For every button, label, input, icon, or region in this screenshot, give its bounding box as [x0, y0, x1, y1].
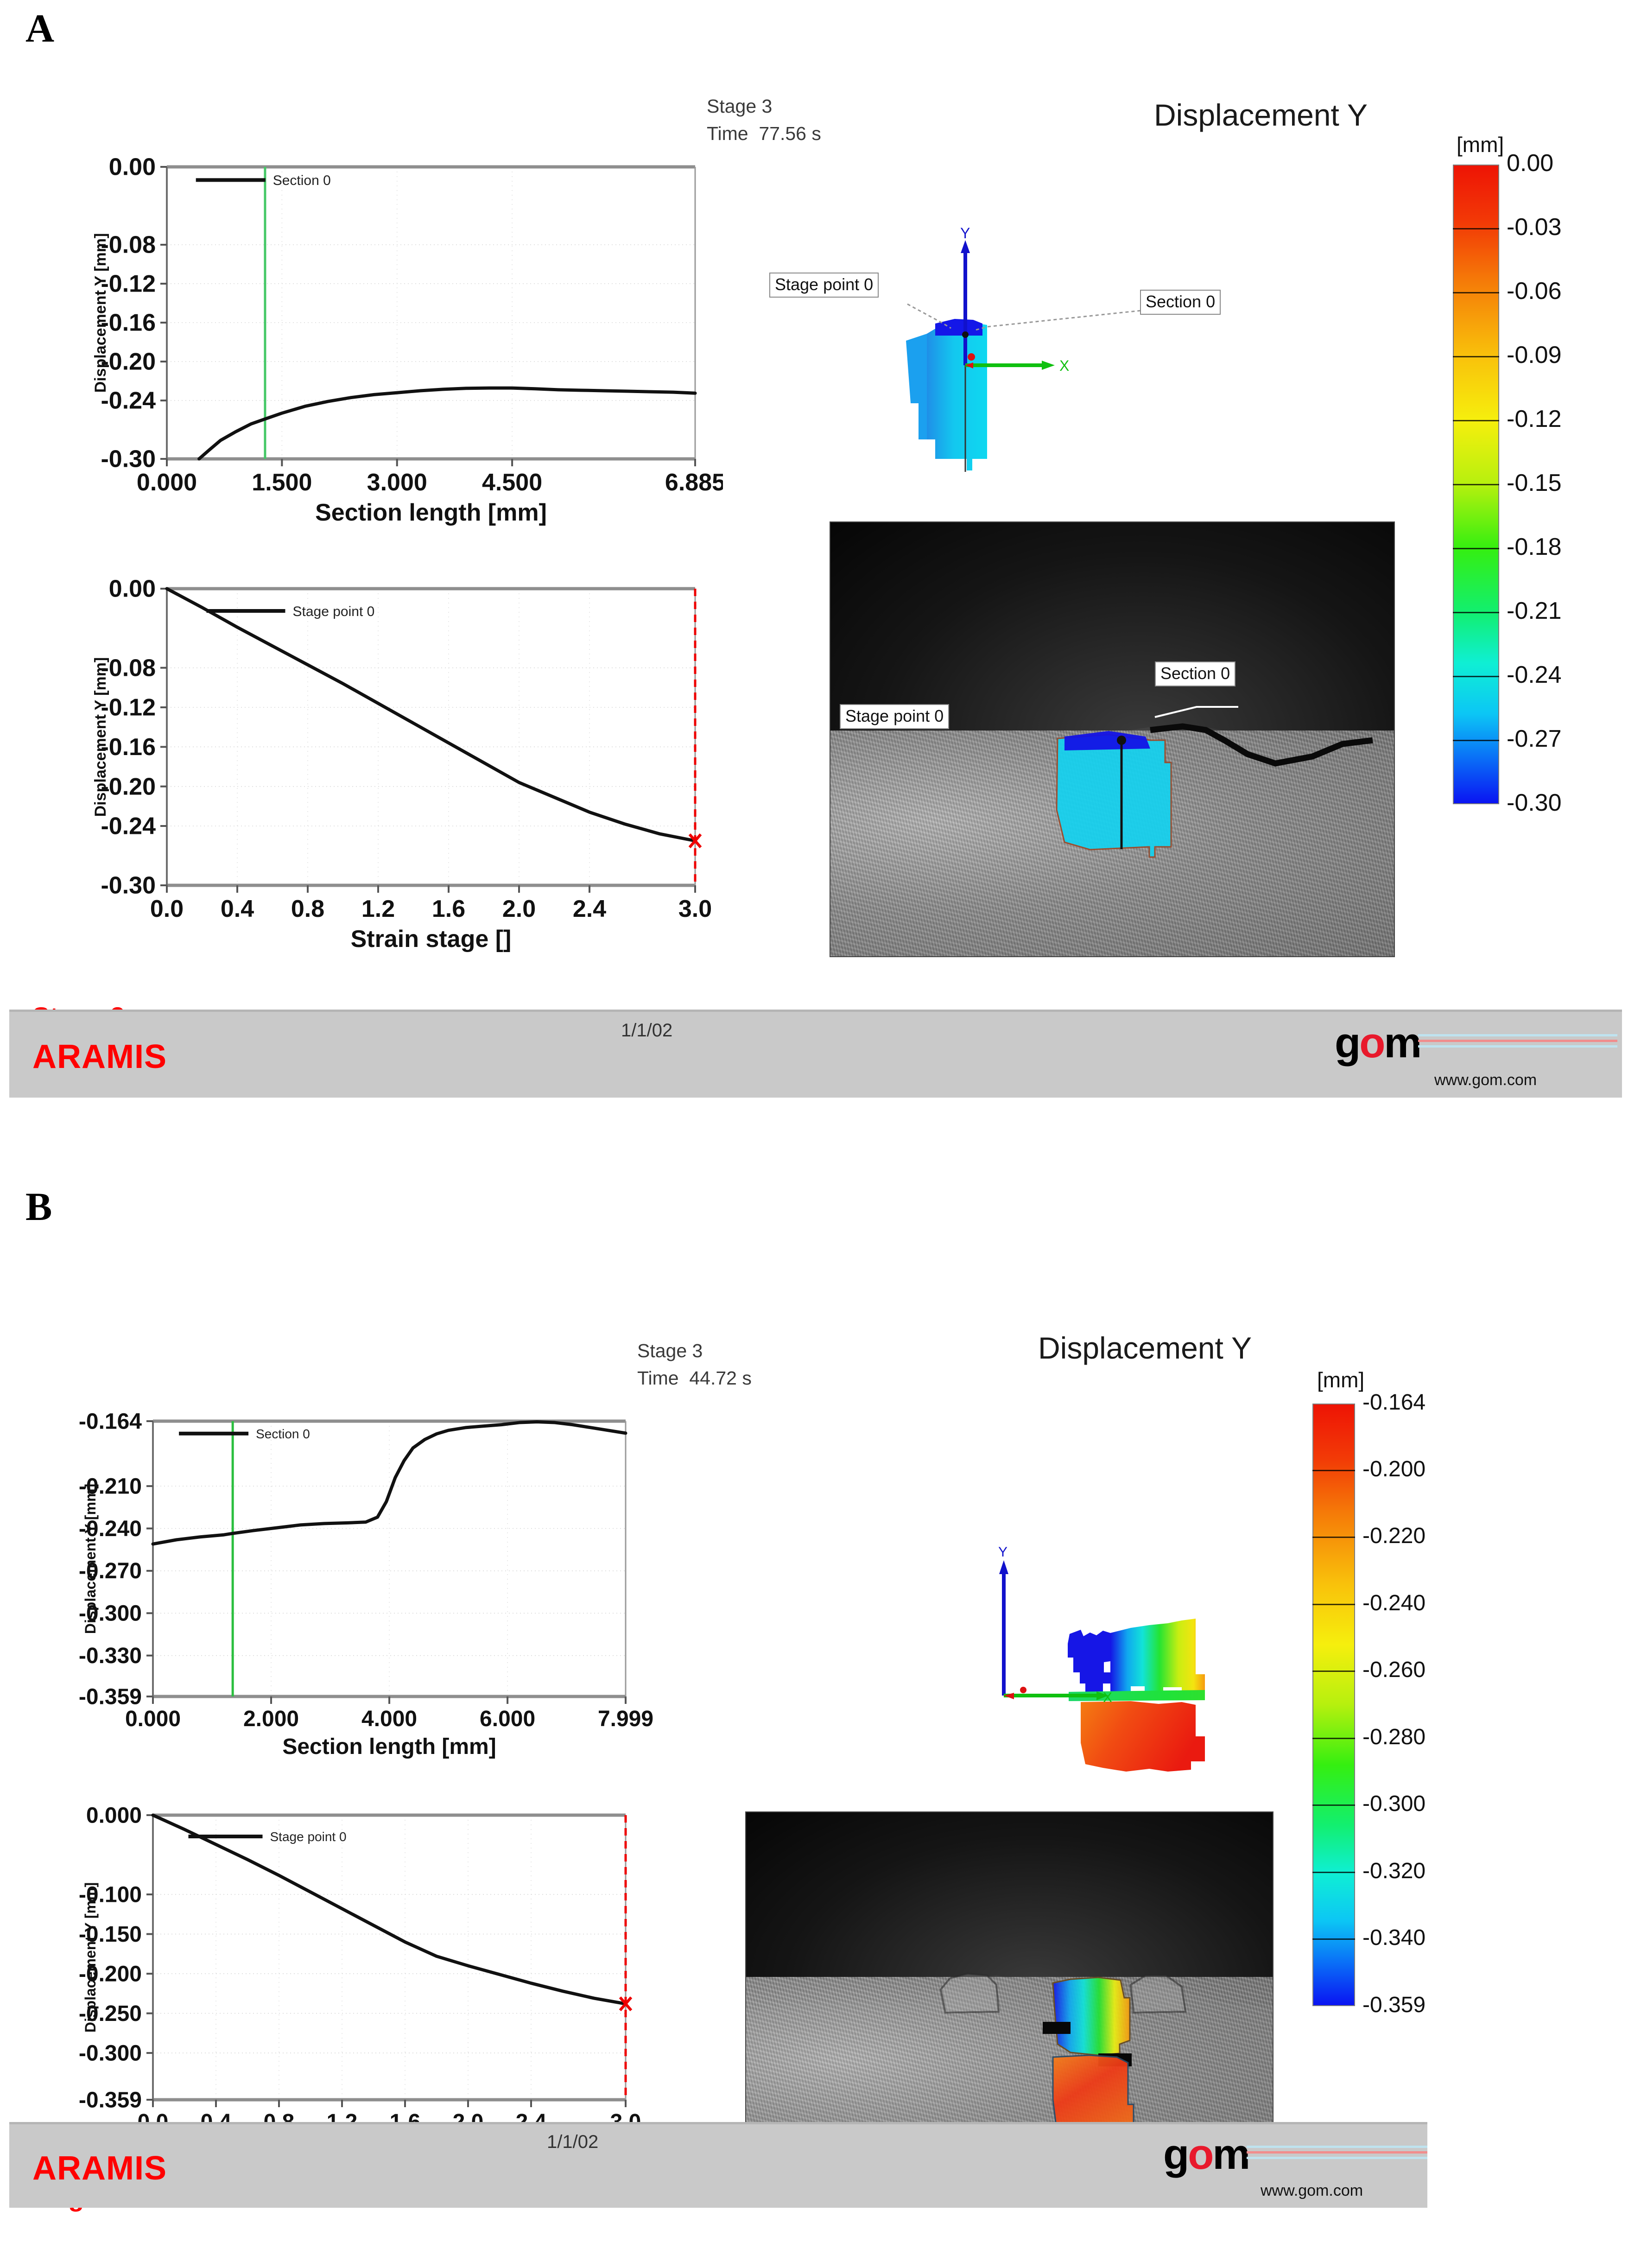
- axis-label-x-b: X: [1103, 1690, 1112, 1705]
- gom-logo-rules-a: [1418, 1034, 1617, 1051]
- footer-app-name-b: ARAMIS: [32, 2149, 167, 2187]
- stage-time-info-a: Stage 3Time 77.56 s: [707, 93, 821, 148]
- svg-text:2.4: 2.4: [573, 896, 606, 922]
- svg-text:7.999: 7.999: [598, 1707, 653, 1731]
- svg-text:Section 0: Section 0: [256, 1427, 310, 1441]
- callout-stage-point-a[interactable]: Stage point 0: [769, 273, 879, 298]
- gom-logo-rules-b: [1247, 2146, 1427, 2162]
- svg-text:-0.330: -0.330: [79, 1644, 142, 1668]
- colorbar-tick-label: -0.30: [1507, 791, 1562, 815]
- colorbar-tick: [1312, 1671, 1355, 1672]
- svg-text:0.00: 0.00: [109, 154, 156, 181]
- aramis-report-panel-a: Stage 3Time 77.56 s Displacement Y 0.00-…: [0, 42, 1641, 1103]
- gom-logo-a: gom: [1335, 1024, 1420, 1062]
- figure-root: A Stage 3Time 77.56 s Displacement Y 0.0…: [0, 0, 1641, 2268]
- svg-text:-0.359: -0.359: [79, 2088, 142, 2112]
- svg-text:0.0: 0.0: [150, 896, 184, 922]
- svg-text:Stage point 0: Stage point 0: [270, 1830, 347, 1844]
- svg-text:1.6: 1.6: [432, 896, 465, 922]
- colorbar-tick: [1312, 1938, 1355, 1940]
- svg-text:0.000: 0.000: [125, 1707, 181, 1731]
- chart-section-length-a[interactable]: 0.00-0.08-0.12-0.16-0.20-0.24-0.300.0001…: [19, 148, 723, 556]
- colorbar-tick-label: -0.240: [1362, 1592, 1426, 1614]
- svg-text:6.000: 6.000: [480, 1707, 535, 1731]
- colorbar-tick-label: 0.00: [1507, 151, 1553, 175]
- colorbar-tick-label: -0.300: [1362, 1793, 1426, 1815]
- svg-text:3.000: 3.000: [367, 469, 427, 496]
- callout-stage-point-photo-a[interactable]: Stage point 0: [840, 704, 949, 729]
- colorbar-tick-label: -0.24: [1507, 663, 1562, 687]
- svg-text:-0.359: -0.359: [79, 1684, 142, 1709]
- colorbar-tick: [1312, 1804, 1355, 1806]
- svg-text:Section length [mm]: Section length [mm]: [282, 1734, 496, 1759]
- svg-text:1.500: 1.500: [252, 469, 312, 496]
- colorbar-tick: [1453, 548, 1499, 549]
- svg-text:6.885: 6.885: [665, 469, 723, 496]
- footer-date-a: 1/1/02: [621, 1020, 672, 1041]
- stage-time-info-b: Stage 3Time 44.72 s: [637, 1337, 752, 1392]
- svg-text:-0.30: -0.30: [101, 872, 156, 899]
- colorbar-tick: [1453, 484, 1499, 485]
- footer-app-name-a: ARAMIS: [32, 1038, 167, 1076]
- model-viewport-a[interactable]: Y X Stage point 0 Section 0: [788, 218, 1381, 515]
- colorbar-tick-label: -0.03: [1507, 215, 1562, 239]
- colorbar-tick: [1453, 420, 1499, 421]
- svg-text:Displacement Y [mm]: Displacement Y [mm]: [82, 1484, 99, 1634]
- colorbar-tick-label: -0.12: [1507, 407, 1562, 431]
- svg-text:Displacement Y [mm]: Displacement Y [mm]: [92, 233, 109, 393]
- svg-text:Displacement Y [mm]: Displacement Y [mm]: [92, 657, 109, 817]
- model-viewport-b[interactable]: Y X: [964, 1502, 1325, 1817]
- colorbar-b: [mm] -0.164-0.200-0.220-0.240-0.260-0.28…: [1293, 1367, 1497, 2044]
- svg-text:0.00: 0.00: [109, 576, 156, 603]
- model-3d-b: Y X: [964, 1502, 1325, 1817]
- svg-text:-0.30: -0.30: [101, 446, 156, 473]
- chart-section-length-b[interactable]: -0.164-0.210-0.240-0.270-0.300-0.330-0.3…: [14, 1404, 663, 1794]
- specimen-photo-a[interactable]: Stage point 0 Section 0: [830, 521, 1395, 957]
- chart-canvas-a-stage: 0.00-0.08-0.12-0.16-0.20-0.24-0.300.00.4…: [19, 570, 723, 987]
- svg-text:0.8: 0.8: [291, 896, 324, 922]
- colorbar-tick: [1312, 1604, 1355, 1605]
- svg-text:-0.164: -0.164: [79, 1409, 142, 1434]
- colorbar-tick: [1453, 612, 1499, 613]
- svg-text:0.000: 0.000: [137, 469, 197, 496]
- callout-section-a[interactable]: Section 0: [1140, 290, 1221, 315]
- colorbar-tick-label: -0.21: [1507, 599, 1562, 623]
- axis-label-x-a: X: [1059, 357, 1069, 374]
- colorbar-tick: [1312, 1738, 1355, 1739]
- gom-url-b[interactable]: www.gom.com: [1261, 2182, 1363, 2200]
- footer-date-b: 1/1/02: [547, 2132, 598, 2153]
- colorbar-tick: [1312, 1872, 1355, 1873]
- axis-label-y-a: Y: [960, 225, 970, 241]
- svg-text:Section length [mm]: Section length [mm]: [315, 499, 547, 526]
- colorbar-unit-a: [mm]: [1457, 132, 1504, 157]
- chart-strain-stage-a[interactable]: 0.00-0.08-0.12-0.16-0.20-0.24-0.300.00.4…: [19, 570, 723, 987]
- colorbar-tick-label: -0.260: [1362, 1659, 1426, 1681]
- colorbar-unit-b: [mm]: [1317, 1367, 1364, 1392]
- report-footer-b: ARAMIS 1/1/02 gom www.gom.com: [9, 2122, 1427, 2208]
- photo-overlay-a: [830, 522, 1395, 957]
- colorbar-tick-label: -0.359: [1362, 1994, 1426, 2016]
- svg-text:Displacement Y [mm]: Displacement Y [mm]: [82, 1882, 99, 2033]
- colorbar-tick-label: -0.280: [1362, 1726, 1426, 1748]
- gom-url-a[interactable]: www.gom.com: [1434, 1071, 1537, 1089]
- svg-text:0.4: 0.4: [221, 896, 254, 922]
- svg-text:0.000: 0.000: [86, 1803, 142, 1828]
- colorbar-tick-label: -0.15: [1507, 471, 1562, 495]
- colorbar-tick-label: -0.27: [1507, 727, 1562, 751]
- colorbar-tick: [1312, 1470, 1355, 1471]
- colorbar-tick-label: -0.164: [1362, 1391, 1426, 1414]
- colorbar-tick: [1453, 292, 1499, 293]
- report-footer-a: ARAMIS 1/1/02 gom www.gom.com: [9, 1010, 1622, 1098]
- colorbar-strip-b: [1312, 1404, 1355, 2006]
- chart-canvas-a-section: 0.00-0.08-0.12-0.16-0.20-0.24-0.300.0001…: [19, 148, 723, 556]
- svg-text:Strain stage []: Strain stage []: [351, 926, 512, 953]
- svg-text:1.2: 1.2: [361, 896, 395, 922]
- colorbar-tick-label: -0.18: [1507, 535, 1562, 559]
- colorbar-tick: [1453, 740, 1499, 741]
- colorbar-a: [mm] 0.00-0.03-0.06-0.09-0.12-0.15-0.18-…: [1430, 132, 1634, 855]
- colorbar-tick-label: -0.200: [1362, 1458, 1426, 1480]
- panel-letter-b: B: [25, 1187, 52, 1226]
- chart-canvas-b-section: -0.164-0.210-0.240-0.270-0.300-0.330-0.3…: [14, 1404, 663, 1794]
- aramis-report-panel-b: Stage 3Time 44.72 s Displacement Y -0.16…: [0, 1293, 1641, 2267]
- colorbar-tick: [1312, 1537, 1355, 1538]
- time-label-b: Time 44.72 s: [637, 1367, 752, 1389]
- model-3d-a: Y X: [788, 218, 1381, 515]
- axis-label-y-b: Y: [998, 1544, 1007, 1560]
- colorbar-tick-label: -0.220: [1362, 1525, 1426, 1547]
- stage-label-b: Stage 3: [637, 1340, 703, 1361]
- svg-text:4.000: 4.000: [361, 1707, 417, 1731]
- svg-text:4.500: 4.500: [482, 469, 542, 496]
- svg-text:-0.300: -0.300: [79, 2041, 142, 2065]
- svg-text:3.0: 3.0: [678, 896, 712, 922]
- colorbar-tick-label: -0.09: [1507, 343, 1562, 367]
- svg-text:Section 0: Section 0: [273, 173, 331, 188]
- svg-text:2.000: 2.000: [243, 1707, 299, 1731]
- colorbar-tick-label: -0.06: [1507, 279, 1562, 303]
- stage-label-a: Stage 3: [707, 95, 772, 117]
- colorbar-tick: [1453, 356, 1499, 357]
- colorbar-tick: [1453, 228, 1499, 229]
- svg-text:2.0: 2.0: [502, 896, 536, 922]
- displacement-title-b: Displacement Y: [1038, 1330, 1252, 1366]
- time-label-a: Time 77.56 s: [707, 123, 821, 144]
- colorbar-tick: [1453, 676, 1499, 677]
- gom-logo-b: gom: [1163, 2135, 1249, 2174]
- displacement-title-a: Displacement Y: [1154, 97, 1368, 133]
- callout-section-photo-a[interactable]: Section 0: [1155, 661, 1236, 686]
- colorbar-tick-label: -0.320: [1362, 1860, 1426, 1882]
- colorbar-tick-label: -0.340: [1362, 1927, 1426, 1949]
- svg-text:Stage point 0: Stage point 0: [293, 604, 375, 619]
